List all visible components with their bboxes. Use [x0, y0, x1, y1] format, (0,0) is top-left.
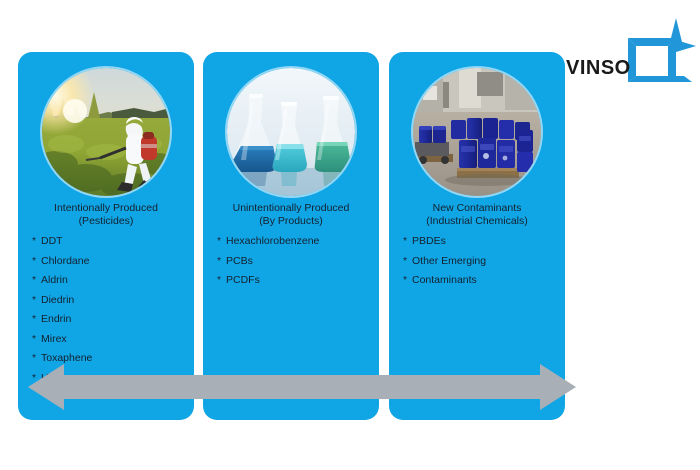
list-item-label: Toxaphene [41, 352, 92, 364]
category-panel-new-contaminants: New Contaminants (Industrial Chemicals) … [389, 52, 565, 420]
panel-title-line1: Intentionally Produced [54, 202, 158, 214]
bullet-marker: * [32, 252, 41, 272]
vinso-bracket-cross-mark-icon [622, 14, 696, 88]
panel-title: New Contaminants (Industrial Chemicals) [393, 202, 561, 228]
bullet-marker: * [32, 291, 41, 311]
list-item: *Other Emerging [403, 252, 557, 272]
list-item: *Endrin [32, 310, 186, 330]
bullet-marker: * [32, 330, 41, 350]
list-item-label: Contaminants [412, 274, 477, 286]
list-item-label: Endrin [41, 313, 71, 325]
list-item: *Mirex [32, 330, 186, 350]
panel-title-line2: (By Products) [207, 215, 375, 228]
brand-wordmark: VINSO [566, 57, 631, 80]
bullet-marker: * [32, 369, 41, 389]
contaminant-list: *PBDEs *Other Emerging *Contaminants [403, 232, 557, 291]
list-item: *Chlordane [32, 252, 186, 272]
list-item-label: Diedrin [41, 294, 74, 306]
list-item: *Contaminants [403, 271, 557, 291]
panel-title: Intentionally Produced (Pesticides) [22, 202, 190, 228]
bullet-marker: * [32, 310, 41, 330]
bullet-marker: * [217, 232, 226, 252]
pesticide-spraying-photo [42, 68, 170, 196]
list-item: *HCBs [32, 369, 186, 389]
list-item-label: DDT [41, 235, 63, 247]
list-item-label: Aldrin [41, 274, 68, 286]
bullet-marker: * [217, 271, 226, 291]
list-item: *PCDFs [217, 271, 371, 291]
bullet-marker: * [403, 232, 412, 252]
contaminant-list: *Hexachlorobenzene *PCBs *PCDFs [217, 232, 371, 291]
list-item-label: Other Emerging [412, 255, 486, 267]
list-item-label: Mirex [41, 333, 67, 345]
list-item-label: PCDFs [226, 274, 260, 286]
list-item: *Hexachlorobenzene [217, 232, 371, 252]
list-item-label: PCBs [226, 255, 253, 267]
bullet-marker: * [32, 349, 41, 369]
contaminant-list: *DDT *Chlordane *Aldrin *Diedrin *Endrin… [32, 232, 186, 388]
panel-title-line2: (Pesticides) [22, 215, 190, 228]
bullet-marker: * [403, 271, 412, 291]
panel-title-line2: (Industrial Chemicals) [393, 215, 561, 228]
panel-title-line1: Unintentionally Produced [233, 202, 350, 214]
list-item-label: PBDEs [412, 235, 446, 247]
bullet-marker: * [403, 252, 412, 272]
bullet-marker: * [32, 232, 41, 252]
list-item: *PCBs [217, 252, 371, 272]
list-item: *Diedrin [32, 291, 186, 311]
list-item: *Toxaphene [32, 349, 186, 369]
list-item: *PBDEs [403, 232, 557, 252]
category-panel-intentionally-produced: Intentionally Produced (Pesticides) *DDT… [18, 52, 194, 420]
brand-logo: VINSO [566, 14, 696, 98]
panel-title: Unintentionally Produced (By Products) [207, 202, 375, 228]
list-item: *DDT [32, 232, 186, 252]
list-item-label: Chlordane [41, 255, 89, 267]
panel-title-line1: New Contaminants [433, 202, 522, 214]
bullet-marker: * [32, 271, 41, 291]
bullet-marker: * [217, 252, 226, 272]
laboratory-flasks-photo [227, 68, 355, 196]
list-item: *Aldrin [32, 271, 186, 291]
list-item-label: HCBs [41, 372, 68, 384]
chemical-drums-warehouse-photo [413, 68, 541, 196]
list-item-label: Hexachlorobenzene [226, 235, 319, 247]
category-panel-unintentionally-produced: Unintentionally Produced (By Products) *… [203, 52, 379, 420]
